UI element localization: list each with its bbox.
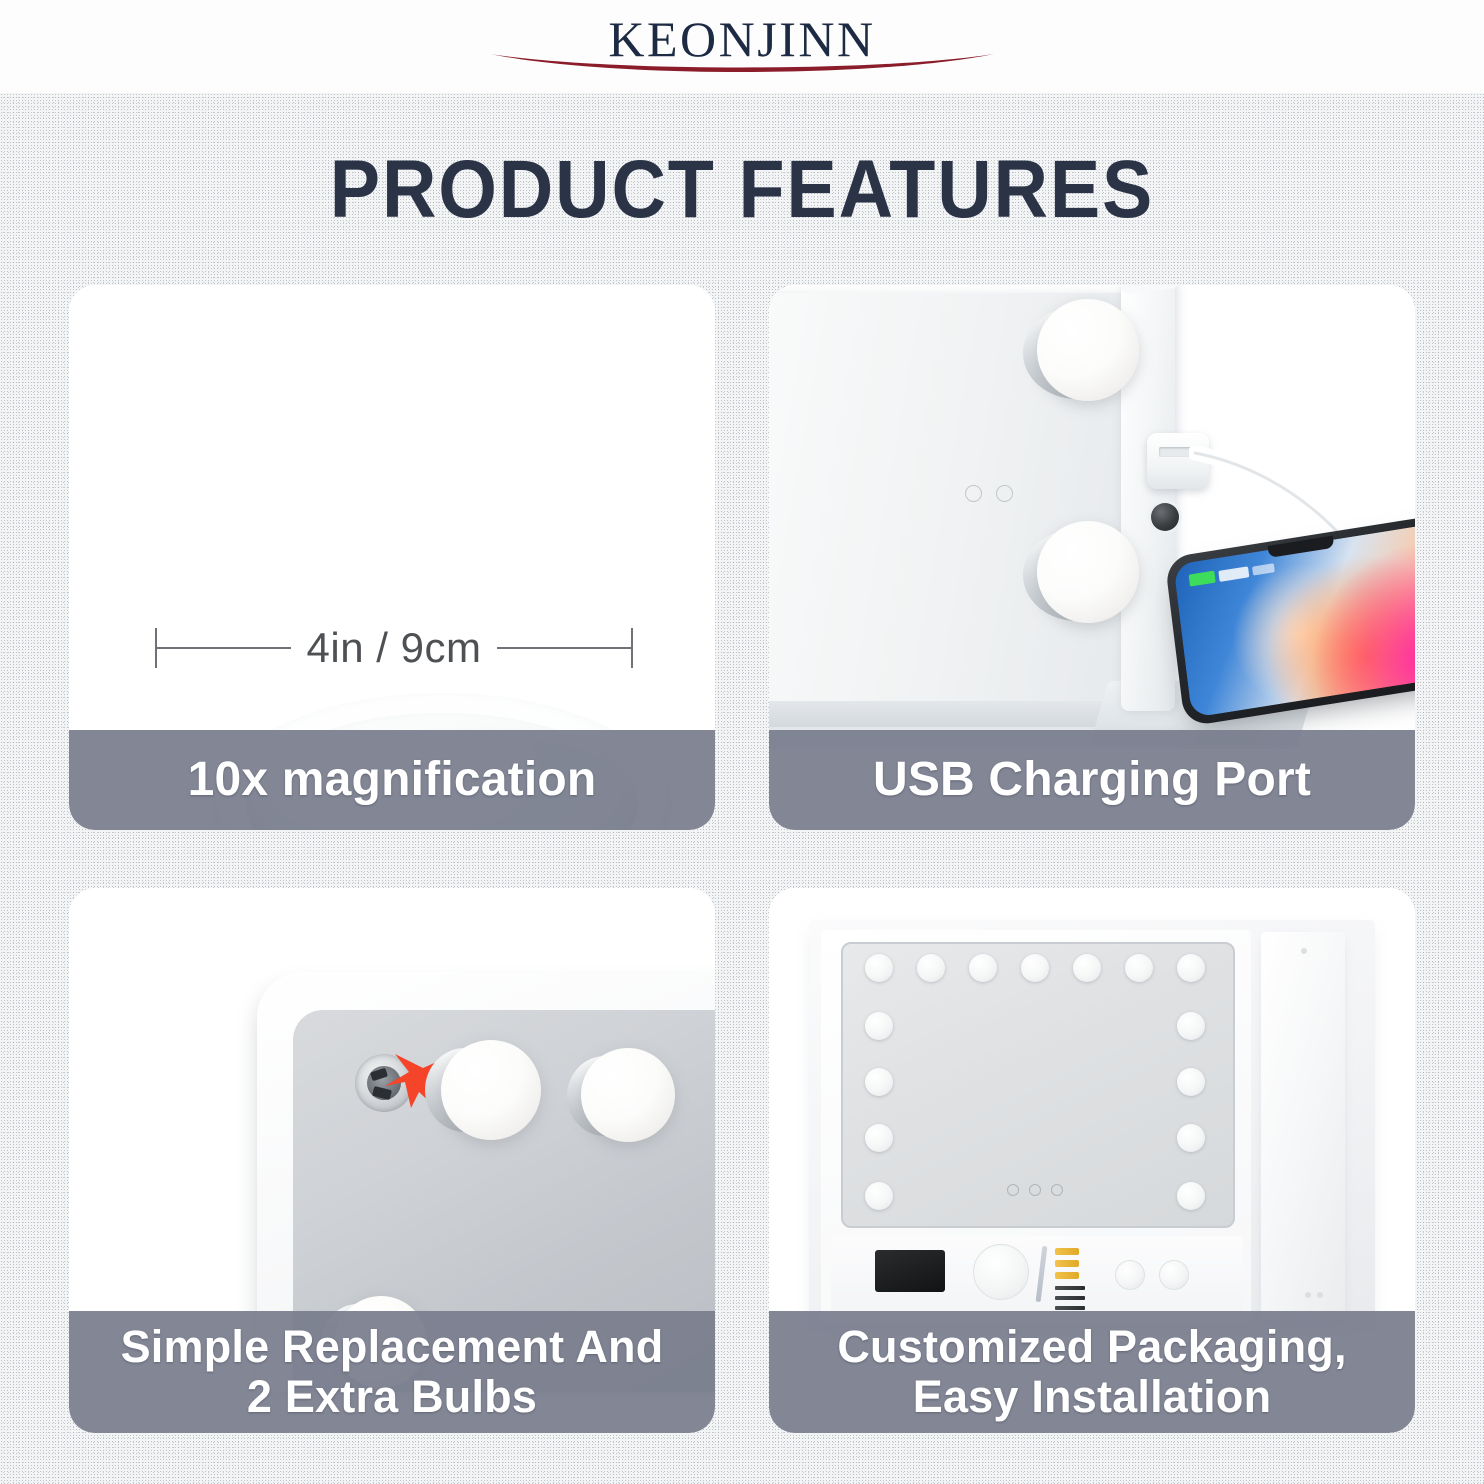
wall-anchor: [1055, 1272, 1079, 1279]
packed-bulb: [969, 954, 997, 982]
touch-control-dot: [1007, 1184, 1019, 1196]
caption-line: Simple Replacement And: [121, 1322, 664, 1372]
packed-bulb: [1021, 954, 1049, 982]
feature-card-grid: 4in / 9cm 10x magnification: [69, 285, 1415, 1433]
led-bulb: [581, 1048, 675, 1142]
mirror-panel-edge: [769, 701, 1135, 727]
touch-control-dot: [1029, 1184, 1041, 1196]
packed-bulb: [1125, 954, 1153, 982]
caption-line: 10x magnification: [188, 753, 597, 807]
power-jack: [1151, 503, 1179, 531]
packed-bulb: [865, 954, 893, 982]
magnifying-mirror-accessory: [973, 1244, 1029, 1300]
led-bulb: [1037, 521, 1139, 623]
packed-bulb: [865, 1182, 893, 1210]
packed-bulb: [1177, 954, 1205, 982]
caption-packaging: Customized Packaging, Easy Installation: [769, 1311, 1415, 1433]
caption-line: 2 Extra Bulbs: [121, 1372, 664, 1422]
packed-touch-controls: [1007, 1184, 1063, 1196]
packed-bulb: [865, 1068, 893, 1096]
dimension-line-left: [157, 647, 291, 649]
packed-bulb: [1177, 1124, 1205, 1152]
feature-card-packaging[interactable]: Customized Packaging, Easy Installation: [769, 888, 1415, 1433]
status-bar-block: [1218, 566, 1249, 582]
packed-bulb: [1177, 1012, 1205, 1040]
product-features-infographic: KEONJINN PRODUCT FEATURES 4in / 9cm: [0, 0, 1484, 1484]
packed-bulb: [865, 1012, 893, 1040]
led-bulb: [1037, 299, 1139, 401]
caption-line: Easy Installation: [837, 1372, 1346, 1422]
extra-bulb: [1115, 1260, 1145, 1290]
caption-line: Customized Packaging,: [837, 1322, 1346, 1372]
dimension-measure: 4in / 9cm: [155, 622, 633, 674]
brand-logo: KEONJINN: [482, 8, 1002, 86]
screw: [1055, 1306, 1085, 1310]
stand-dot: [1305, 1292, 1311, 1298]
packed-bulb: [917, 954, 945, 982]
dimension-cap-right: [631, 628, 633, 668]
packed-bulb: [865, 1124, 893, 1152]
packed-bulb: [1177, 1068, 1205, 1096]
touch-control-dot: [965, 485, 982, 502]
battery-indicator: [1189, 571, 1216, 587]
mirror-stand-part: [1261, 932, 1345, 1320]
feature-card-usb-charging[interactable]: USB Charging Port: [769, 285, 1415, 830]
screw: [1055, 1296, 1085, 1300]
feature-card-bulb-replacement[interactable]: Simple Replacement And 2 Extra Bulbs: [69, 888, 715, 1433]
caption-bulb-replacement: Simple Replacement And 2 Extra Bulbs: [69, 1311, 715, 1433]
caption-usb-charging: USB Charging Port: [769, 730, 1415, 830]
brand-swoosh-icon: [488, 52, 996, 78]
screw: [1055, 1286, 1085, 1290]
caption-line: USB Charging Port: [873, 753, 1311, 807]
touch-controls: [965, 483, 1043, 503]
brand-header: KEONJINN: [0, 0, 1484, 93]
dimension-line-right: [497, 647, 631, 649]
power-adapter: [875, 1250, 945, 1292]
dimension-label: 4in / 9cm: [291, 624, 498, 672]
page-title: PRODUCT FEATURES: [59, 143, 1424, 237]
touch-control-dot: [1051, 1184, 1063, 1196]
status-bar-block: [1252, 563, 1275, 575]
led-bulb: [441, 1040, 541, 1140]
touch-control-dot: [996, 485, 1013, 502]
packed-bulb: [1177, 1182, 1205, 1210]
extra-bulb: [1159, 1260, 1189, 1290]
caption-magnification: 10x magnification: [69, 730, 715, 830]
stand-dot: [1317, 1292, 1323, 1298]
wall-anchor: [1055, 1248, 1079, 1255]
wall-anchor: [1055, 1260, 1079, 1267]
usb-port-slot: [1159, 447, 1193, 457]
feature-card-magnification[interactable]: 4in / 9cm 10x magnification: [69, 285, 715, 830]
phone-status-bar: [1189, 561, 1275, 586]
stand-dot: [1301, 948, 1307, 954]
packed-bulb: [1073, 954, 1101, 982]
